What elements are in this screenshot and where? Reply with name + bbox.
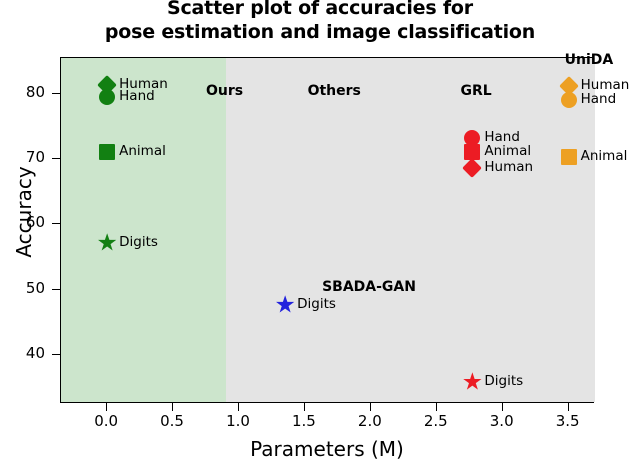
data-point-label: Animal: [581, 148, 628, 164]
x-tick-mark: [106, 403, 107, 411]
data-point-ours-animal[interactable]: [99, 144, 115, 160]
data-point-label: Human: [484, 159, 533, 175]
chart-title: Scatter plot of accuracies for pose esti…: [0, 0, 640, 44]
x-tick-mark: [370, 403, 371, 411]
chart-title-line1: Scatter plot of accuracies for: [167, 0, 473, 19]
chart-title-line2: pose estimation and image classification: [0, 20, 640, 44]
y-tick-label: 40: [0, 344, 45, 362]
group-annotation-unida: UniDA: [565, 52, 614, 68]
x-tick-label: 0.0: [76, 412, 136, 430]
x-tick-label: 1.0: [208, 412, 268, 430]
x-tick-mark: [502, 403, 503, 411]
ours-region-band: [61, 58, 226, 402]
group-annotation-sbada-gan: SBADA-GAN: [322, 279, 416, 295]
x-tick-mark: [172, 403, 173, 411]
data-point-label: Hand: [119, 88, 155, 104]
x-tick-mark: [568, 403, 569, 411]
x-axis-label: Parameters (M): [60, 437, 594, 461]
x-tick-label: 0.5: [142, 412, 202, 430]
data-point-grl-animal[interactable]: [464, 144, 480, 160]
data-point-label: Digits: [119, 234, 158, 250]
x-tick-mark: [238, 403, 239, 411]
x-tick-label: 2.0: [340, 412, 400, 430]
y-tick-label: 70: [0, 148, 45, 166]
data-point-label: Animal: [119, 143, 166, 159]
y-tick-mark: [52, 93, 60, 94]
data-point-unida-animal[interactable]: [561, 149, 577, 165]
others-region-band: [226, 58, 595, 402]
y-tick-label: 80: [0, 83, 45, 101]
y-tick-mark: [52, 289, 60, 290]
data-point-label: Digits: [484, 373, 523, 389]
y-tick-label: 60: [0, 213, 45, 231]
group-annotation-grl: GRL: [461, 83, 492, 99]
plot-area: HumanHandAnimalDigitsHandAnimalHumanDigi…: [60, 57, 594, 403]
data-point-label: Animal: [484, 143, 531, 159]
scatter-plot-figure: Scatter plot of accuracies for pose esti…: [0, 0, 640, 473]
data-point-unida-hand[interactable]: [561, 92, 577, 108]
group-annotation-ours: Ours: [206, 83, 243, 99]
y-tick-mark: [52, 354, 60, 355]
data-point-ours-hand[interactable]: [99, 89, 115, 105]
data-point-label: Digits: [297, 296, 336, 312]
data-point-label: Hand: [581, 91, 617, 107]
x-tick-label: 1.5: [274, 412, 334, 430]
group-annotation-others: Others: [308, 83, 361, 99]
y-tick-mark: [52, 158, 60, 159]
x-tick-label: 3.0: [472, 412, 532, 430]
y-tick-mark: [52, 223, 60, 224]
x-tick-label: 2.5: [406, 412, 466, 430]
x-tick-mark: [436, 403, 437, 411]
x-tick-label: 3.5: [538, 412, 598, 430]
x-tick-mark: [304, 403, 305, 411]
y-tick-label: 50: [0, 279, 45, 297]
